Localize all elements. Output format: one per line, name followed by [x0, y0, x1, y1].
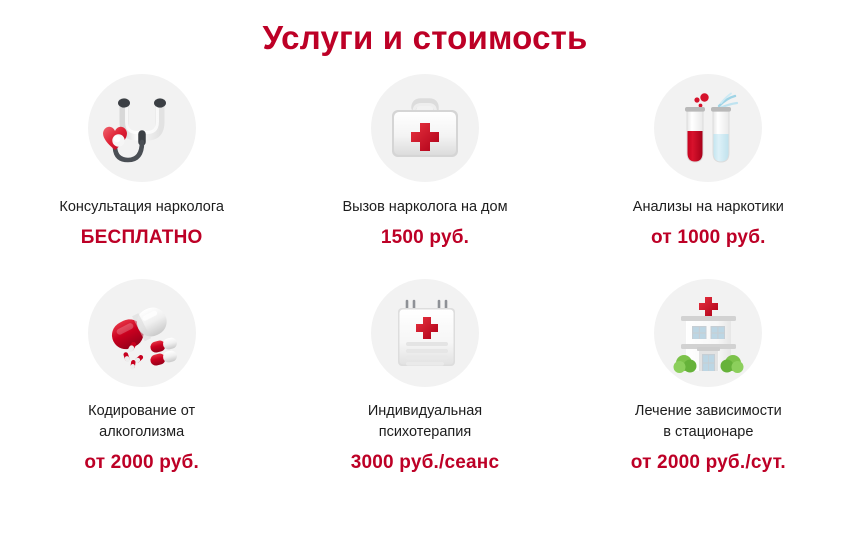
service-card-home-visit[interactable]: Вызов нарколога на дом 1500 руб.	[283, 74, 566, 279]
service-price: от 2000 руб.	[84, 452, 199, 474]
first-aid-kit-icon	[371, 74, 479, 182]
service-name: Вызов нарколога на дом	[342, 197, 507, 218]
service-price: 1500 руб.	[381, 227, 469, 249]
services-pricing-section: Услуги и стоимость	[0, 0, 850, 539]
service-card-alcohol-coding[interactable]: Кодирование от алкоголизма от 2000 руб.	[0, 279, 283, 484]
service-name: Анализы на наркотики	[633, 197, 784, 218]
service-name: Консультация нарколога	[59, 197, 224, 218]
service-price: от 2000 руб./сут.	[631, 452, 786, 474]
services-grid: Консультация нарколога БЕСПЛАТНО	[0, 74, 850, 484]
service-card-inpatient[interactable]: Лечение зависимости в стационаре от 2000…	[567, 279, 850, 484]
service-card-consultation[interactable]: Консультация нарколога БЕСПЛАТНО	[0, 74, 283, 279]
service-card-psychotherapy[interactable]: Индивидуальная психотерапия 3000 руб./се…	[283, 279, 566, 484]
service-card-drug-tests[interactable]: Анализы на наркотики от 1000 руб.	[567, 74, 850, 279]
hospital-building-icon	[654, 279, 762, 387]
pill-capsules-icon	[88, 279, 196, 387]
service-price: 3000 руб./сеанс	[351, 452, 500, 474]
service-name: Кодирование от алкоголизма	[88, 401, 195, 443]
stethoscope-heart-icon	[88, 74, 196, 182]
page-title: Услуги и стоимость	[0, 0, 850, 58]
test-tubes-icon	[654, 74, 762, 182]
medical-chart-icon	[371, 279, 479, 387]
service-name: Лечение зависимости в стационаре	[635, 401, 782, 443]
service-name: Индивидуальная психотерапия	[368, 401, 482, 443]
service-price: от 1000 руб.	[651, 227, 766, 249]
service-price: БЕСПЛАТНО	[81, 227, 203, 249]
